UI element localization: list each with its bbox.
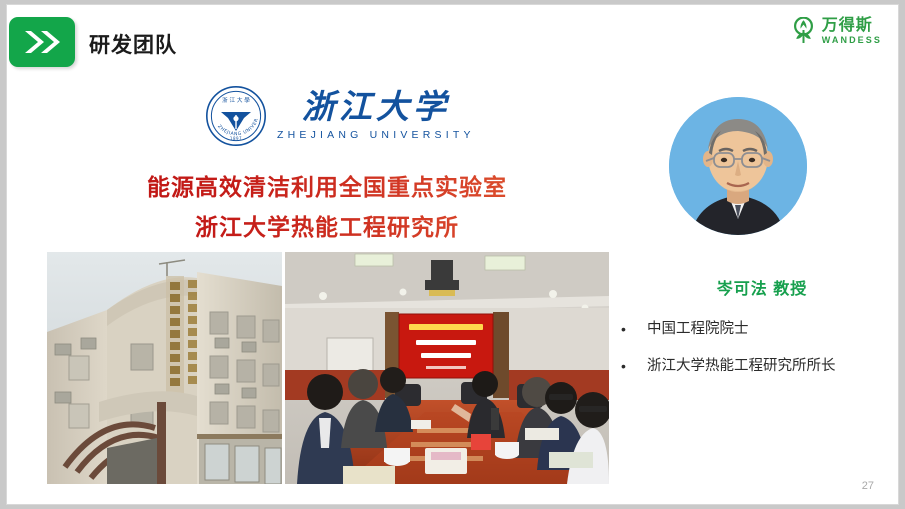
credential-text: 浙江大学热能工程研究所所长	[647, 356, 899, 378]
svg-text:浙 江 大 學: 浙 江 大 學	[222, 96, 250, 104]
credentials-list: • 中国工程院院士 • 浙江大学热能工程研究所所长	[621, 319, 899, 393]
brand-name-en: WANDESS	[822, 36, 882, 45]
photo-strip	[47, 252, 609, 484]
zhejiang-university-logo: 浙 江 大 學 1897 ZHEJIANG UNIVERSITY 浙江大学 ZH…	[205, 85, 475, 147]
joint-center-meeting-photo	[285, 252, 609, 484]
list-item: • 中国工程院院士	[621, 319, 899, 341]
university-name-cn: 浙江大学	[302, 91, 450, 126]
zhejiang-university-seal-icon: 浙 江 大 學 1897 ZHEJIANG UNIVERSITY	[205, 85, 267, 147]
credential-text: 中国工程院院士	[647, 319, 899, 341]
lab-heading-line-2: 浙江大学热能工程研究所	[7, 208, 647, 242]
page-number: 27	[862, 480, 874, 492]
wandess-leaf-logo-icon	[791, 17, 817, 45]
brand-logo: 万得斯 WANDESS	[791, 17, 882, 45]
lab-heading-line-1: 能源高效清洁利用全国重点实验室	[7, 168, 647, 202]
double-chevron-right-icon	[9, 17, 75, 67]
slide-canvas: 研发团队 万得斯 WANDESS 浙 江 大 學	[6, 4, 899, 505]
brand-name-cn: 万得斯	[822, 18, 882, 34]
bullet-dot-icon: •	[621, 319, 647, 341]
professor-name: 岑可法 教授	[627, 275, 897, 299]
bullet-dot-icon: •	[621, 356, 647, 378]
professor-portrait	[669, 97, 807, 235]
institute-building-photo	[47, 252, 282, 484]
page-title: 研发团队	[89, 29, 177, 59]
university-name-en: ZHEJIANG UNIVERSITY	[277, 129, 475, 141]
list-item: • 浙江大学热能工程研究所所长	[621, 356, 899, 378]
